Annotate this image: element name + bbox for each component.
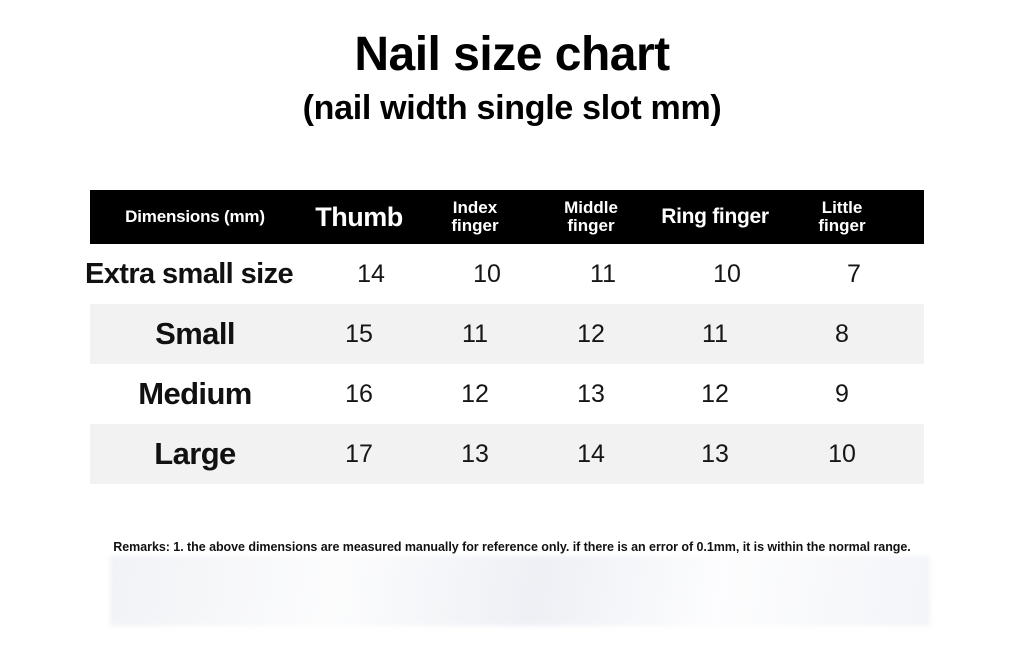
row-label: Large xyxy=(90,436,300,472)
table-header-row: Dimensions (mm) Thumb Index finger Middl… xyxy=(90,190,924,244)
cell-thumb: 17 xyxy=(300,440,418,469)
table-row: Small 15 11 12 11 8 xyxy=(90,304,924,364)
cell-little-finger: 9 xyxy=(780,380,904,409)
cell-index-finger: 10 xyxy=(430,260,544,289)
column-header-little-line1: Little xyxy=(822,198,863,217)
column-header-thumb: Thumb xyxy=(300,203,418,231)
cell-ring-finger: 10 xyxy=(662,260,792,289)
cell-thumb: 16 xyxy=(300,380,418,409)
cell-little-finger: 7 xyxy=(792,260,916,289)
column-header-index-line1: Index xyxy=(453,198,497,217)
cell-ring-finger: 13 xyxy=(650,440,780,469)
column-header-little-line2: finger xyxy=(818,216,865,235)
cell-middle-finger: 11 xyxy=(544,260,662,289)
row-label: Medium xyxy=(90,376,300,412)
table-row: Extra small size 14 10 11 10 7 xyxy=(90,244,924,304)
column-header-dimensions: Dimensions (mm) xyxy=(90,208,300,226)
page-subtitle: (nail width single slot mm) xyxy=(0,90,1024,127)
column-header-little-finger: Little finger xyxy=(780,199,904,235)
cell-index-finger: 13 xyxy=(418,440,532,469)
cell-middle-finger: 14 xyxy=(532,440,650,469)
cell-middle-finger: 12 xyxy=(532,320,650,349)
background-watermark xyxy=(110,556,930,626)
cell-index-finger: 11 xyxy=(418,320,532,349)
cell-thumb: 14 xyxy=(312,260,430,289)
size-table: Dimensions (mm) Thumb Index finger Middl… xyxy=(90,190,924,484)
title-block: Nail size chart (nail width single slot … xyxy=(0,30,1024,128)
column-header-middle-line1: Middle xyxy=(564,198,618,217)
cell-thumb: 15 xyxy=(300,320,418,349)
table-row: Large 17 13 14 13 10 xyxy=(90,424,924,484)
nail-size-chart-page: Nail size chart (nail width single slot … xyxy=(0,0,1024,661)
column-header-middle-line2: finger xyxy=(567,216,614,235)
cell-little-finger: 10 xyxy=(780,440,904,469)
page-title: Nail size chart xyxy=(0,30,1024,80)
remarks-note: Remarks: 1. the above dimensions are mea… xyxy=(0,540,1024,554)
row-label: Small xyxy=(90,316,300,352)
table-row: Medium 16 12 13 12 9 xyxy=(90,364,924,424)
cell-middle-finger: 13 xyxy=(532,380,650,409)
column-header-middle-finger: Middle finger xyxy=(532,199,650,235)
cell-index-finger: 12 xyxy=(418,380,532,409)
cell-ring-finger: 11 xyxy=(650,320,780,349)
row-label: Extra small size xyxy=(78,258,300,291)
cell-little-finger: 8 xyxy=(780,320,904,349)
cell-ring-finger: 12 xyxy=(650,380,780,409)
column-header-index-line2: finger xyxy=(451,216,498,235)
column-header-index-finger: Index finger xyxy=(418,199,532,235)
column-header-ring-finger: Ring finger xyxy=(650,206,780,228)
